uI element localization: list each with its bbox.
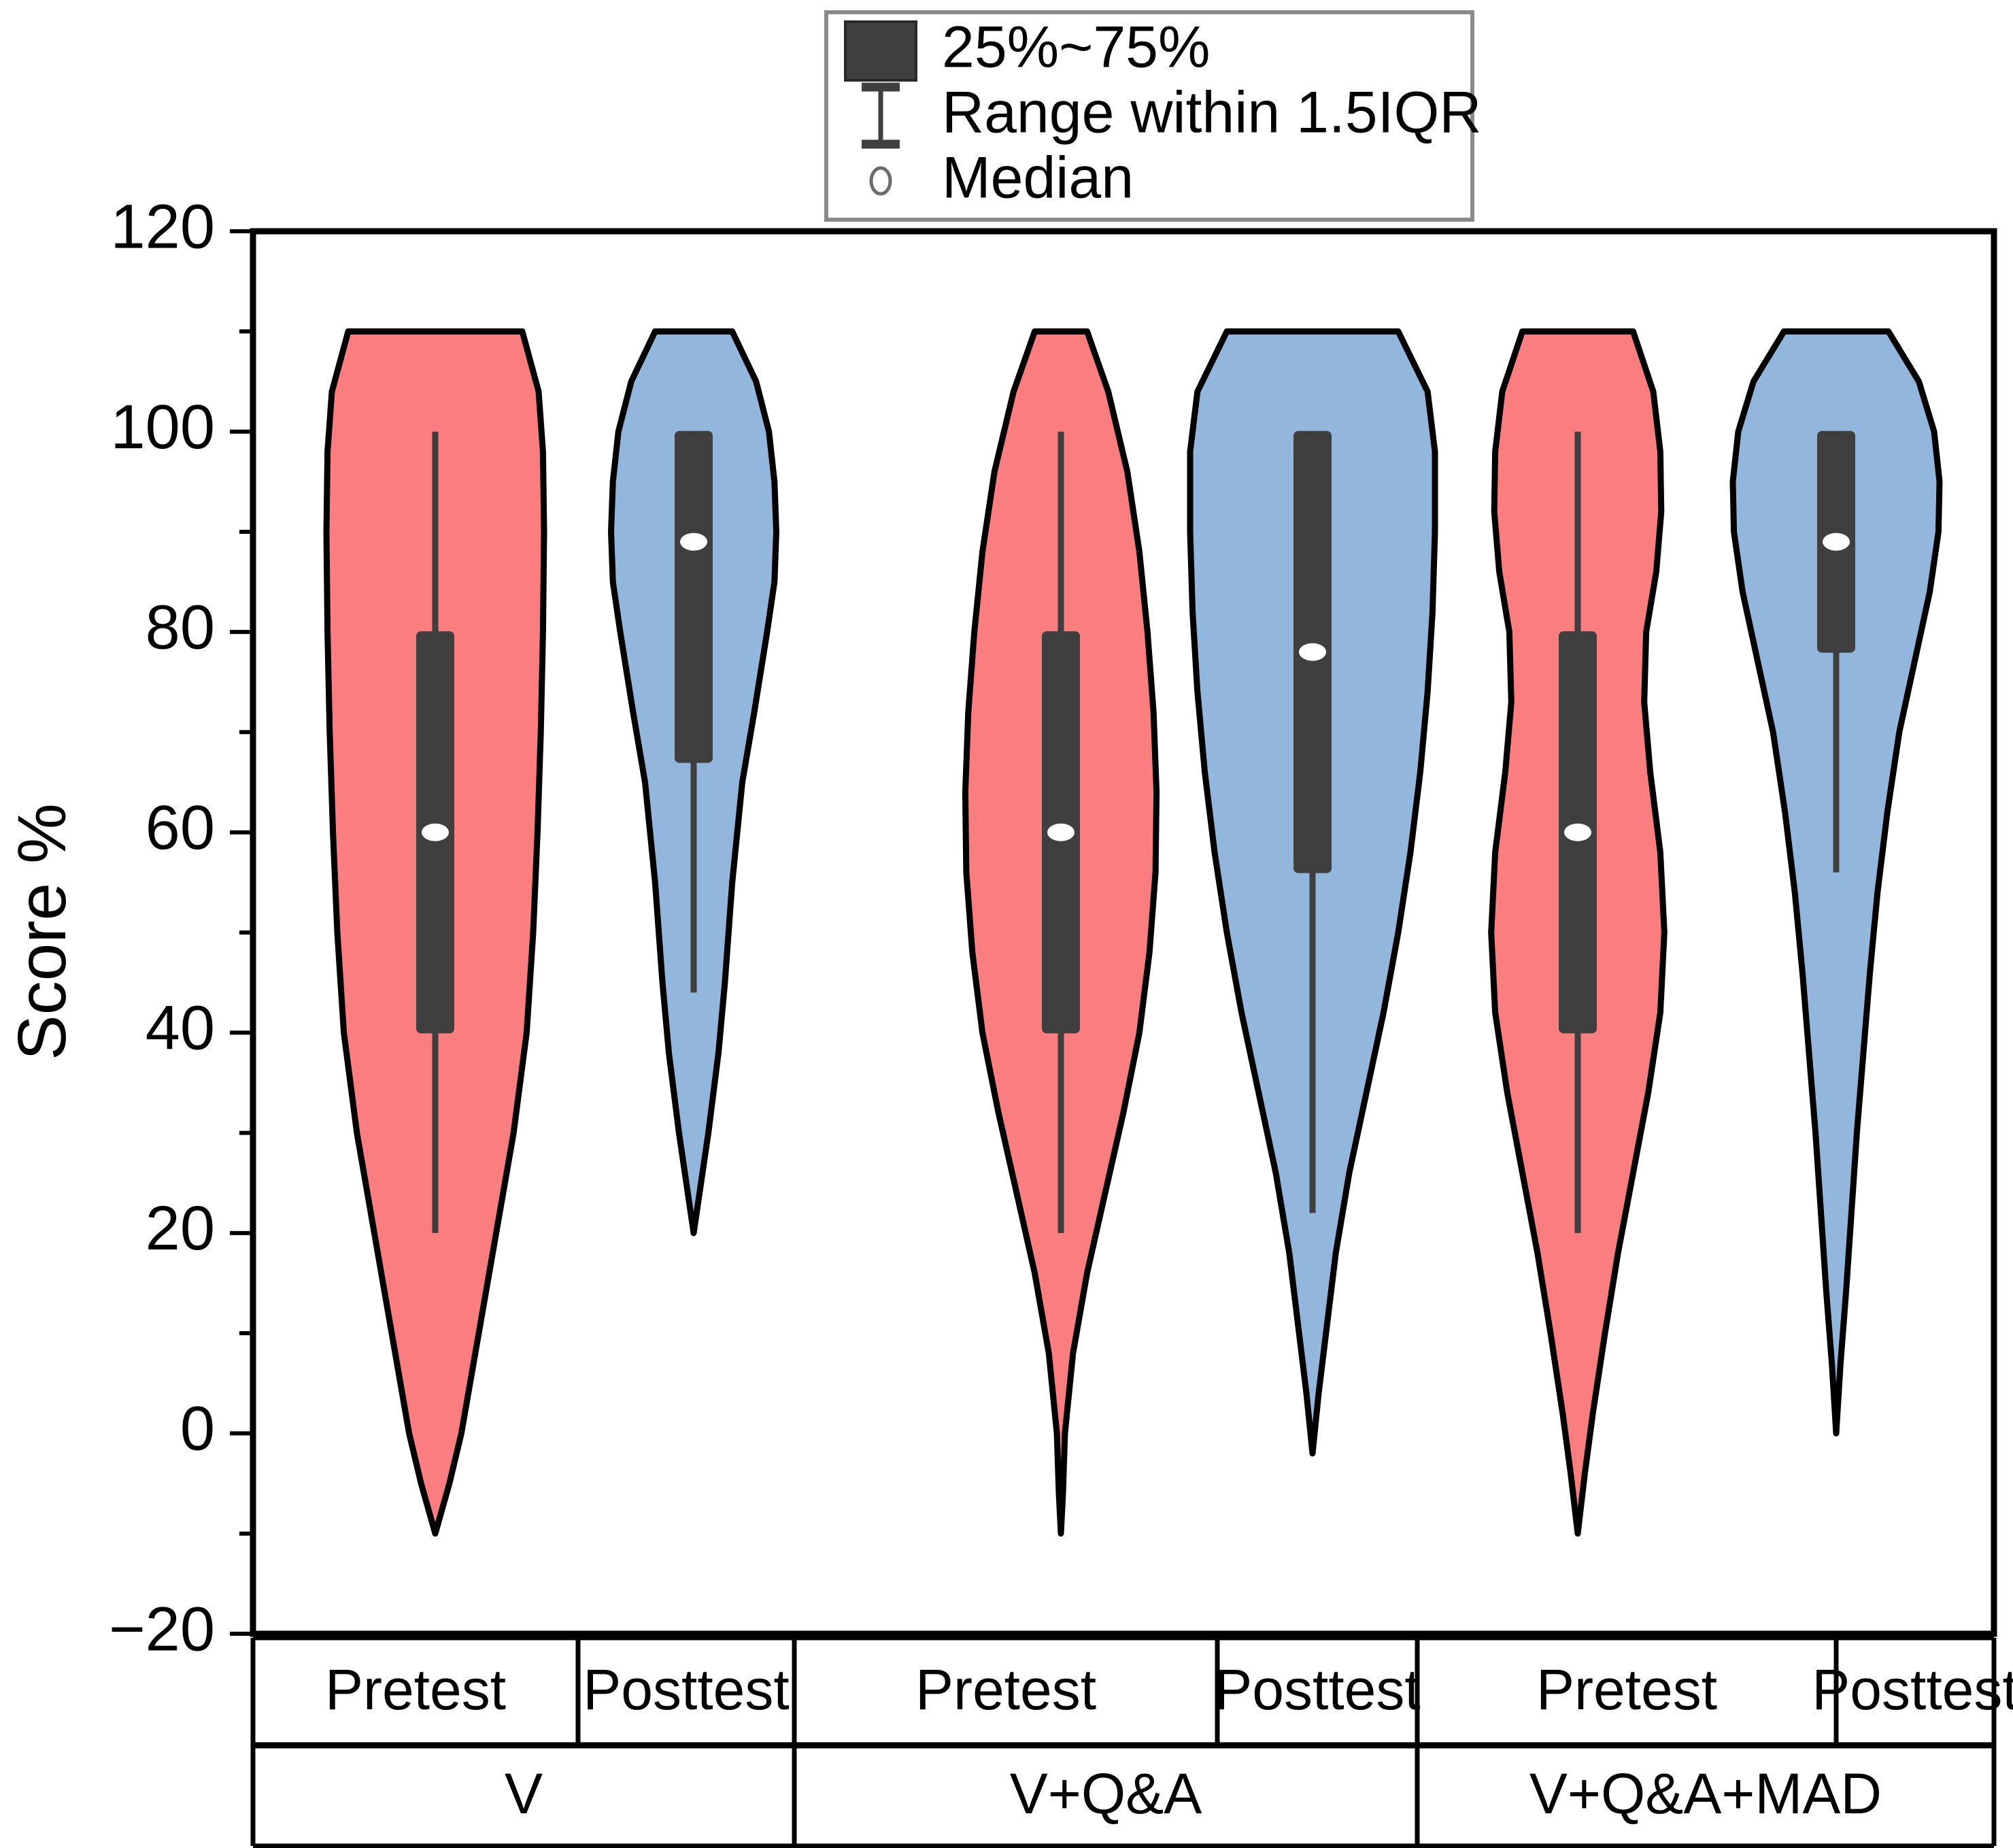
y-axis-ticks (230, 231, 253, 1634)
chart-canvas: −20020406080100120Score %PretestPosttest… (0, 0, 2013, 1848)
iqr-box (675, 432, 712, 762)
legend-label: Range within 1.5IQR (942, 80, 1482, 146)
y-tick-label: 100 (111, 392, 216, 462)
violin-plot-figure: −20020406080100120Score %PretestPosttest… (0, 0, 2013, 1848)
legend-label: 25%~75% (942, 15, 1210, 80)
legend-label: Median (942, 146, 1134, 211)
condition-label: Pretest (915, 1658, 1096, 1721)
group-label: V+Q&A+MAD (1529, 1762, 1882, 1826)
y-tick-label: 40 (146, 994, 215, 1063)
median-marker (1564, 824, 1591, 841)
category-table: PretestPosttestPretestPosttestPretestPos… (253, 1638, 2013, 1846)
median-marker (1823, 533, 1850, 551)
legend-box-marker (845, 22, 916, 80)
condition-label: Posttest (1812, 1658, 2013, 1721)
y-tick-label: 20 (146, 1194, 215, 1263)
median-marker (1299, 643, 1326, 661)
median-marker (422, 824, 449, 841)
condition-label: Posttest (583, 1658, 789, 1721)
condition-label: Pretest (1536, 1658, 1717, 1721)
y-axis-title: Score % (4, 803, 80, 1060)
y-tick-label: 60 (146, 793, 215, 862)
median-marker (680, 533, 707, 551)
group-label: V (505, 1762, 543, 1826)
y-tick-label: 80 (146, 592, 215, 662)
group-label: V+Q&A (1010, 1762, 1202, 1826)
y-tick-label: 0 (180, 1394, 215, 1464)
median-marker (1047, 824, 1075, 841)
condition-label: Posttest (1214, 1658, 1420, 1721)
y-tick-label: −20 (109, 1594, 215, 1664)
y-tick-label: 120 (111, 192, 216, 261)
condition-label: Pretest (325, 1658, 506, 1721)
legend: 25%~75%Range within 1.5IQRMedian (826, 12, 1482, 220)
